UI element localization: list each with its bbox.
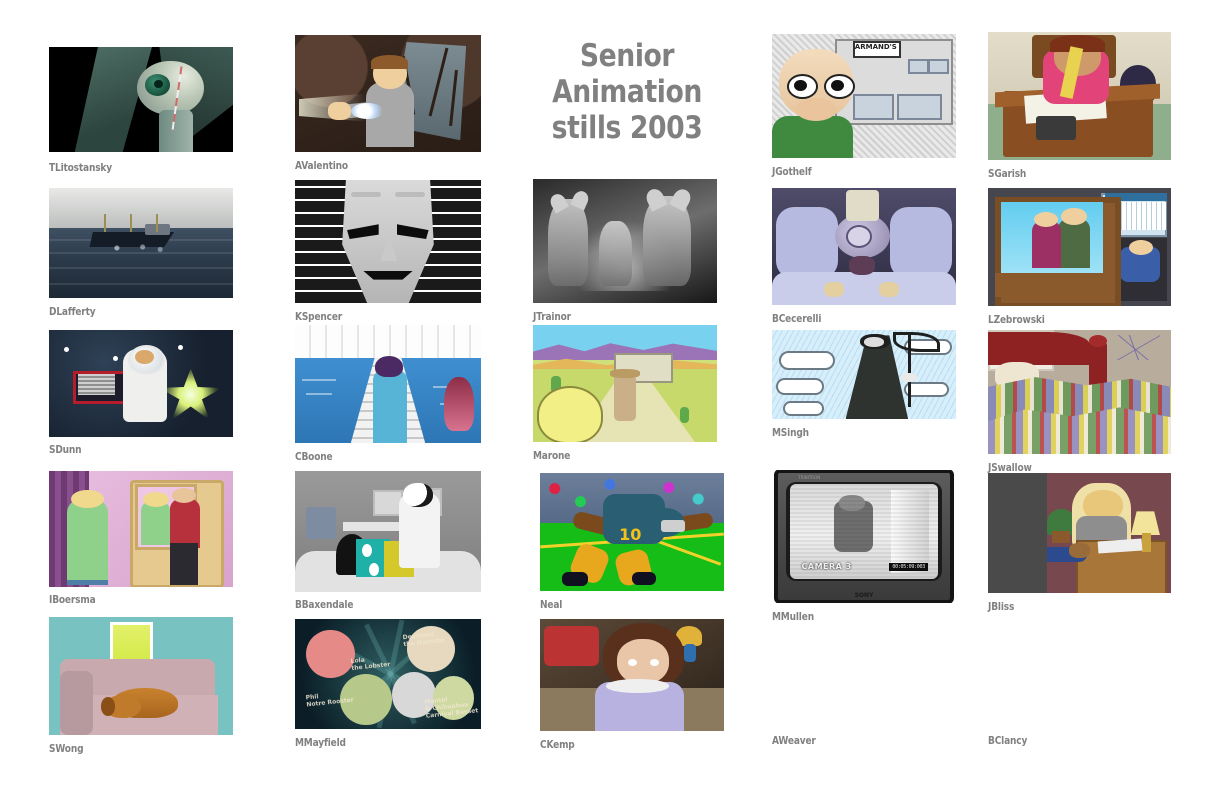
gallery-cell: LZebrowski xyxy=(988,188,1171,328)
caption-mmullen: MMullen xyxy=(772,611,814,623)
still-image-msingh[interactable] xyxy=(772,330,956,419)
caption-swong: SWong xyxy=(49,743,83,755)
gallery-cell: JBliss xyxy=(988,473,1171,613)
gallery-cell: TLitostansky xyxy=(49,47,233,187)
mmullen-brand-top: TRINITRON xyxy=(798,475,820,480)
caption-aweaver: AWeaver xyxy=(772,735,816,747)
caption-kspencer: KSpencer xyxy=(295,311,342,323)
caption-mmayfield: MMayfield xyxy=(295,737,346,749)
caption-sgarish: SGarish xyxy=(988,168,1026,180)
caption-jtrainor: JTrainor xyxy=(533,311,571,323)
gallery-cell: SWong xyxy=(49,617,233,757)
still-image-sdunn[interactable] xyxy=(49,330,233,437)
caption-iboersma: IBoersma xyxy=(49,594,96,606)
gallery-page: Senior Animation stills 2003 TLitostansk… xyxy=(0,0,1224,792)
still-image-bbaxendale[interactable] xyxy=(295,471,481,592)
caption-msingh: MSingh xyxy=(772,427,809,439)
still-image-jtrainor[interactable] xyxy=(533,179,717,303)
gallery-cell: AValentino xyxy=(295,35,481,175)
mmullen-camera-label: CAMERA 3 xyxy=(802,562,852,571)
still-image-sgarish[interactable] xyxy=(988,32,1171,160)
gallery-cell: BCecerelli xyxy=(772,188,956,328)
still-image-jbliss[interactable] xyxy=(988,473,1171,593)
still-image-swong[interactable] xyxy=(49,617,233,735)
caption-lzebrowski: LZebrowski xyxy=(988,314,1045,326)
still-image-ckemp[interactable] xyxy=(540,619,724,731)
gallery-cell: TRINITRON CAMERA 3 00:05:09:003 SONY MMu… xyxy=(772,470,956,620)
gallery-cell: JSwallow xyxy=(988,330,1171,470)
caption-bclancy: BClancy xyxy=(988,735,1027,747)
still-image-iboersma[interactable] xyxy=(49,471,233,587)
caption-ckemp: CKemp xyxy=(540,739,575,751)
caption-neal: Neal xyxy=(540,599,562,611)
caption-jbliss: JBliss xyxy=(988,601,1014,613)
caption-tlitostansky: TLitostansky xyxy=(49,162,112,174)
still-image-mmullen[interactable]: TRINITRON CAMERA 3 00:05:09:003 SONY xyxy=(772,470,956,603)
gallery-cell: KSpencer xyxy=(295,180,481,320)
caption-avalentino: AValentino xyxy=(295,160,348,172)
page-title: Senior Animation stills 2003 xyxy=(528,38,726,146)
still-image-neal[interactable]: 10 xyxy=(540,473,724,591)
gallery-cell: AWeaver xyxy=(772,735,956,755)
gallery-cell: CBoone xyxy=(295,325,481,465)
gallery-cell: Marone xyxy=(533,325,717,465)
still-image-kspencer[interactable] xyxy=(295,180,481,303)
gallery-cell: BBaxendale xyxy=(295,471,481,613)
caption-dlafferty: DLafferty xyxy=(49,306,95,318)
gallery-cell: SDunn xyxy=(49,330,233,470)
still-image-avalentino[interactable] xyxy=(295,35,481,152)
gallery-cell: MSingh xyxy=(772,330,956,470)
caption-marone: Marone xyxy=(533,450,570,462)
jgothelf-sign-text: ARMAND'S xyxy=(855,43,897,51)
gallery-cell: ARMAND'S JGothelf xyxy=(772,34,956,174)
still-image-marone[interactable] xyxy=(533,325,717,442)
gallery-cell: CKemp xyxy=(540,619,724,759)
caption-cboone: CBoone xyxy=(295,451,332,463)
caption-jgothelf: JGothelf xyxy=(772,166,812,178)
caption-bcecerelli: BCecerelli xyxy=(772,313,821,325)
gallery-cell: DLafferty xyxy=(49,188,233,328)
gallery-cell: BClancy xyxy=(988,735,1171,755)
still-image-cboone[interactable] xyxy=(295,325,481,443)
gallery-cell: SGarish xyxy=(988,32,1171,172)
gallery-cell: Lolathe Lobster Desmondthe Hamster PhilN… xyxy=(295,619,481,759)
still-image-bcecerelli[interactable] xyxy=(772,188,956,305)
still-image-mmayfield[interactable]: Lolathe Lobster Desmondthe Hamster PhilN… xyxy=(295,619,481,729)
mmullen-brand-bottom: SONY xyxy=(855,592,874,599)
caption-sdunn: SDunn xyxy=(49,444,81,456)
still-image-lzebrowski[interactable] xyxy=(988,188,1171,306)
still-image-jgothelf[interactable]: ARMAND'S xyxy=(772,34,956,158)
gallery-cell: IBoersma xyxy=(49,471,233,613)
still-image-jswallow[interactable] xyxy=(988,330,1171,454)
mmullen-timecode: 00:05:09:003 xyxy=(889,563,928,571)
caption-bbaxendale: BBaxendale xyxy=(295,599,353,611)
still-image-tlitostansky[interactable] xyxy=(49,47,233,152)
still-image-dlafferty[interactable] xyxy=(49,188,233,298)
gallery-cell: JTrainor xyxy=(533,179,717,319)
gallery-cell: 10 Neal xyxy=(540,473,724,613)
